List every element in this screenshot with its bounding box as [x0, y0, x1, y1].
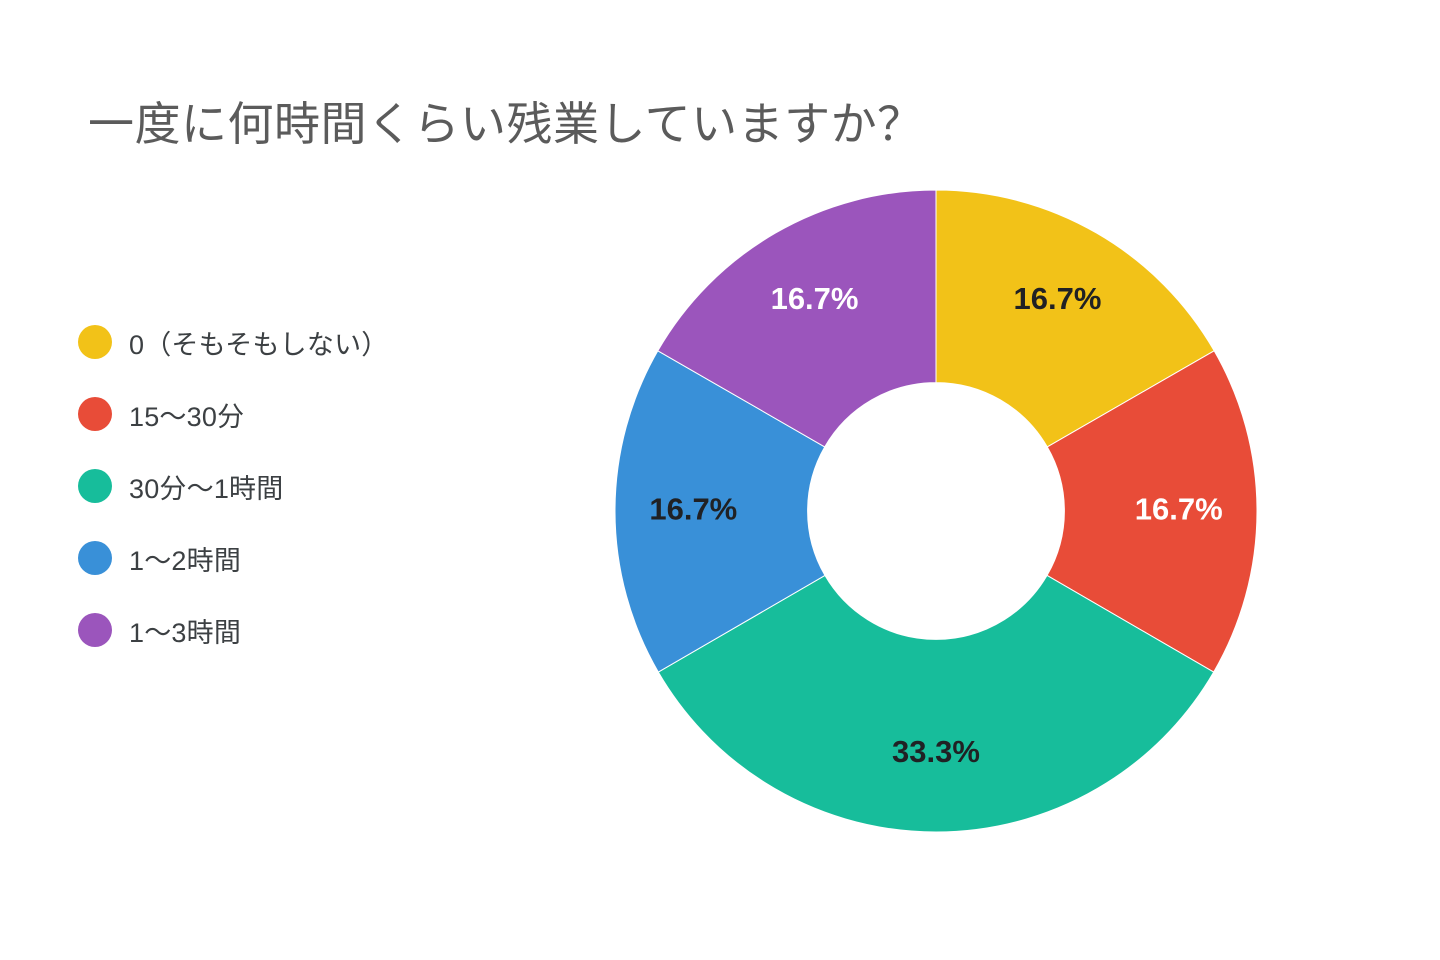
legend-swatch-icon: [78, 541, 112, 575]
chart-page: 一度に何時間くらい残業していますか？ 0（そもそもしない）15～30分30分～1…: [0, 0, 1440, 960]
legend-swatch-icon: [78, 397, 112, 431]
donut-slice-label: 16.7%: [1135, 492, 1223, 527]
legend-item[interactable]: 30分～1時間: [78, 450, 508, 522]
legend-swatch-icon: [78, 469, 112, 503]
donut-chart: 16.7%16.7%33.3%16.7%16.7%: [615, 190, 1257, 832]
legend-item-label: 30分～1時間: [129, 467, 283, 506]
donut-chart-svg: 16.7%16.7%33.3%16.7%16.7%: [615, 190, 1257, 832]
legend-item-label: 1～2時間: [129, 539, 241, 578]
legend-item[interactable]: 1～3時間: [78, 594, 508, 666]
legend-swatch-icon: [78, 325, 112, 359]
legend-item[interactable]: 1～2時間: [78, 522, 508, 594]
donut-slice-label: 16.7%: [649, 492, 737, 527]
legend-item-label: 1～3時間: [129, 611, 241, 650]
legend-item-label: 15～30分: [129, 395, 244, 434]
legend-item[interactable]: 15～30分: [78, 378, 508, 450]
page-title: 一度に何時間くらい残業していますか？: [88, 94, 924, 154]
donut-slice-label: 16.7%: [771, 281, 859, 316]
legend-swatch-icon: [78, 613, 112, 647]
legend-item[interactable]: 0（そもそもしない）: [78, 306, 508, 378]
donut-slice-label: 33.3%: [892, 734, 980, 769]
legend-item-label: 0（そもそもしない）: [129, 323, 388, 362]
chart-legend: 0（そもそもしない）15～30分30分～1時間1～2時間1～3時間: [78, 306, 508, 666]
donut-slice-label: 16.7%: [1014, 281, 1102, 316]
